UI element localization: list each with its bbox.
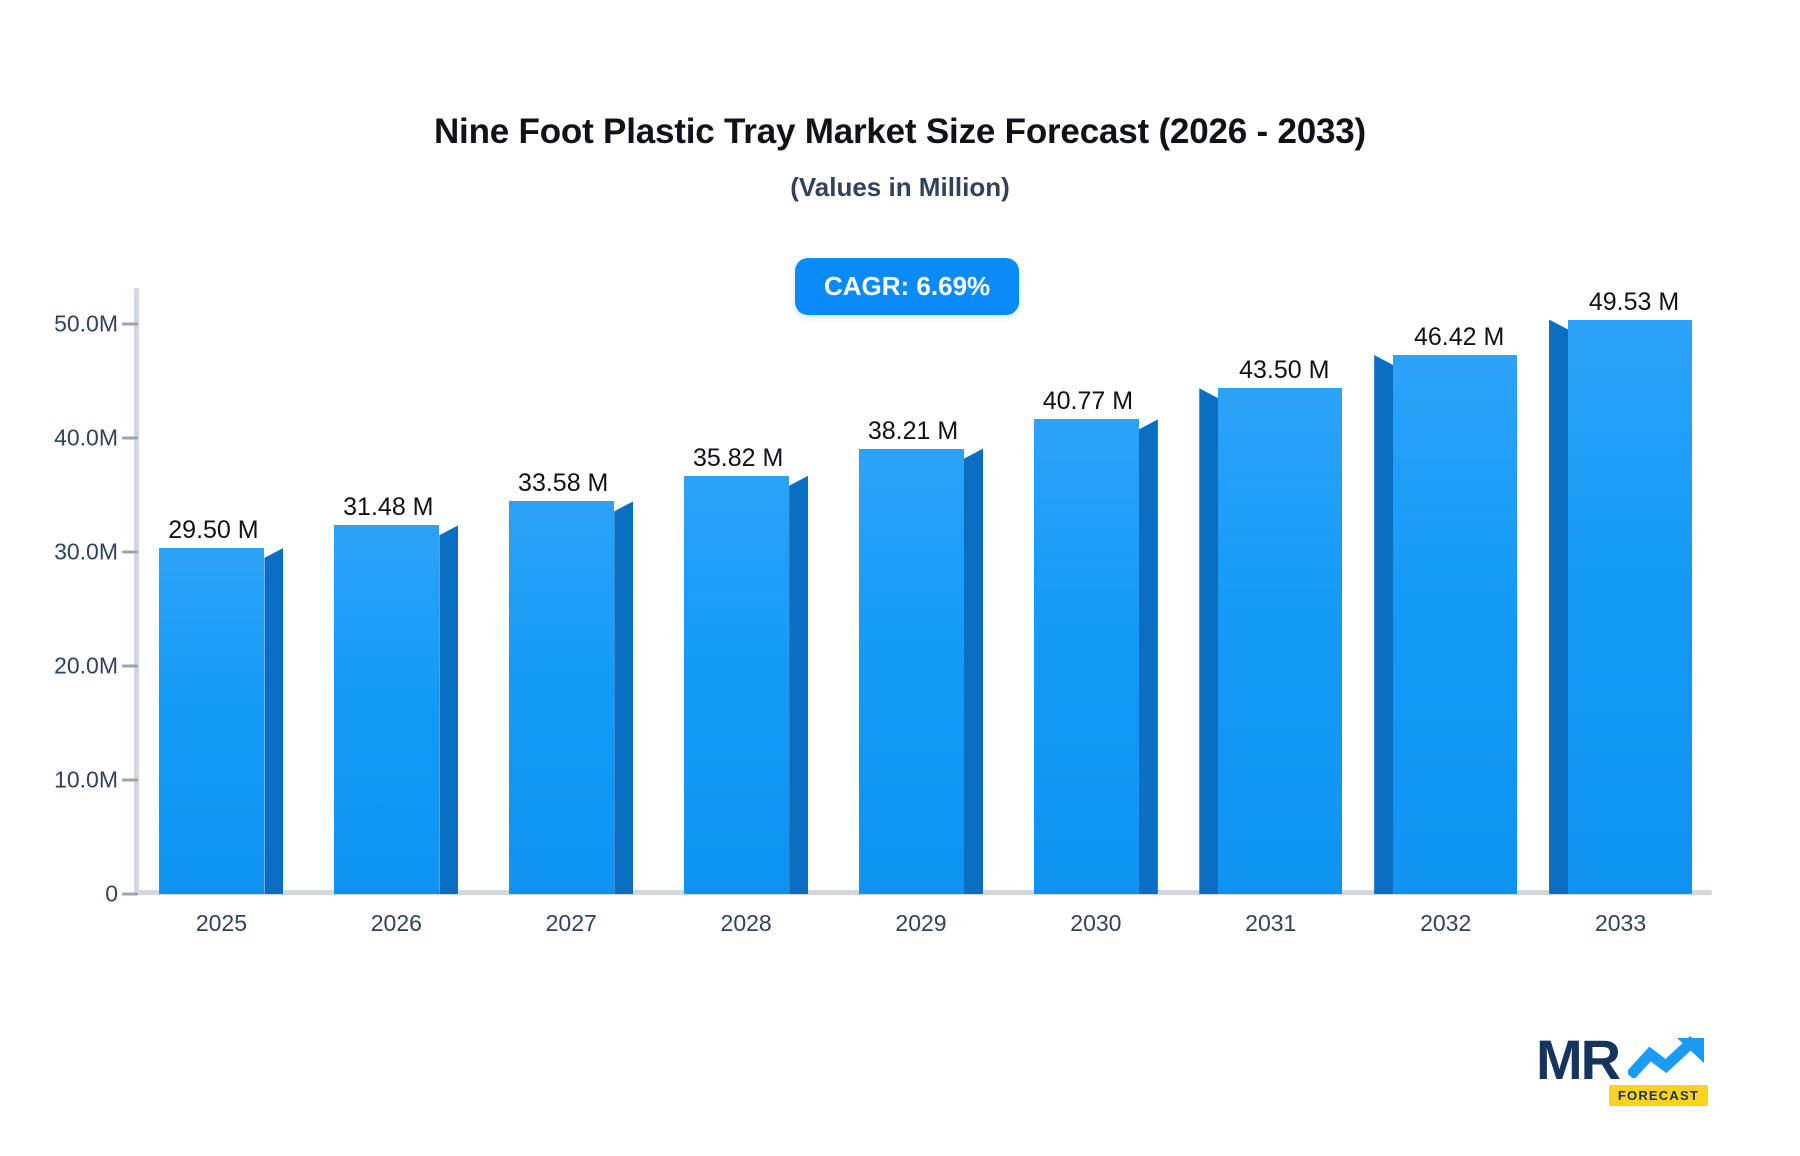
bar-2028[interactable]: 35.82 M: [684, 486, 808, 894]
x-axis-label-2028: 2028: [721, 910, 772, 937]
page-title: Nine Foot Plastic Tray Market Size Forec…: [0, 112, 1800, 152]
bar-top-face: [859, 449, 964, 459]
bar-top-face: [334, 525, 439, 535]
y-axis-tick-label: 0: [8, 881, 118, 908]
bar-face: [334, 535, 439, 894]
bar-value-label: 31.48 M: [343, 493, 433, 522]
bar-face: [1218, 398, 1342, 894]
bar-side-shadow: [1139, 419, 1158, 894]
bar-value-label: 33.58 M: [518, 469, 608, 498]
bar-top-face: [1393, 355, 1517, 365]
x-axis-label-2029: 2029: [895, 910, 946, 937]
y-axis-tick-label: 30.0M: [8, 539, 118, 566]
bar-2025[interactable]: 29.50 M: [159, 558, 283, 894]
bar-face: [684, 486, 789, 894]
bar-face: [159, 558, 264, 894]
bar-2031[interactable]: 43.50 M: [1218, 398, 1342, 894]
bar-2027[interactable]: 33.58 M: [509, 511, 633, 894]
plot-area: 29.50 M31.48 M33.58 M35.82 M38.21 M40.77…: [134, 290, 1708, 894]
bar-side-shadow: [439, 525, 458, 894]
y-axis-tick-label: 50.0M: [8, 311, 118, 338]
x-axis-label-2026: 2026: [371, 910, 422, 937]
x-axis-label-2032: 2032: [1420, 910, 1471, 937]
bar-side-shadow: [1199, 388, 1218, 894]
bar-2032[interactable]: 46.42 M: [1393, 365, 1517, 894]
bar-value-label: 35.82 M: [693, 444, 783, 473]
x-axis-label-2027: 2027: [546, 910, 597, 937]
bar-side-shadow: [964, 449, 983, 894]
bar-face: [509, 511, 614, 894]
bar-face: [859, 459, 964, 894]
rising-arrow-icon: [1628, 1036, 1706, 1078]
bar-face: [1568, 330, 1692, 894]
bar-2030[interactable]: 40.77 M: [1034, 429, 1158, 894]
bar-2029[interactable]: 38.21 M: [859, 459, 983, 894]
bar-side-shadow: [1549, 320, 1568, 894]
bar-top-face: [509, 501, 614, 511]
chart-canvas: Nine Foot Plastic Tray Market Size Forec…: [0, 0, 1800, 1156]
y-axis-tick-label: 10.0M: [8, 767, 118, 794]
bar-value-label: 29.50 M: [168, 516, 258, 545]
bar-top-face: [1034, 419, 1139, 429]
cagr-badge: CAGR: 6.69%: [795, 258, 1019, 315]
bar-value-label: 46.42 M: [1414, 323, 1504, 352]
bar-2026[interactable]: 31.48 M: [334, 535, 458, 894]
chart-subtitle: (Values in Million): [0, 172, 1800, 203]
bar-2033[interactable]: 49.53 M: [1568, 330, 1692, 894]
bar-top-face: [159, 548, 264, 558]
bar-top-face: [1568, 320, 1692, 330]
bar-face: [1393, 365, 1517, 894]
logo-wordmark: MR: [1536, 1032, 1619, 1088]
bar-side-shadow: [264, 548, 283, 894]
bar-side-shadow: [1374, 355, 1393, 894]
logo-tag: FORECAST: [1609, 1085, 1708, 1106]
x-axis-label-2033: 2033: [1595, 910, 1646, 937]
bar-top-face: [684, 476, 789, 486]
bar-face: [1034, 429, 1139, 894]
x-axis-label-2031: 2031: [1245, 910, 1296, 937]
bar-top-face: [1218, 388, 1342, 398]
bar-side-shadow: [789, 476, 808, 894]
x-axis-label-2025: 2025: [196, 910, 247, 937]
bar-value-label: 43.50 M: [1239, 356, 1329, 385]
bar-value-label: 49.53 M: [1589, 288, 1679, 317]
x-axis-label-2030: 2030: [1070, 910, 1121, 937]
y-axis-tick-label: 20.0M: [8, 653, 118, 680]
y-axis-tick-label: 40.0M: [8, 425, 118, 452]
bar-side-shadow: [614, 501, 633, 894]
bar-value-label: 40.77 M: [1043, 387, 1133, 416]
mr-forecast-logo: MR FORECAST: [1536, 1030, 1708, 1108]
bar-value-label: 38.21 M: [868, 417, 958, 446]
